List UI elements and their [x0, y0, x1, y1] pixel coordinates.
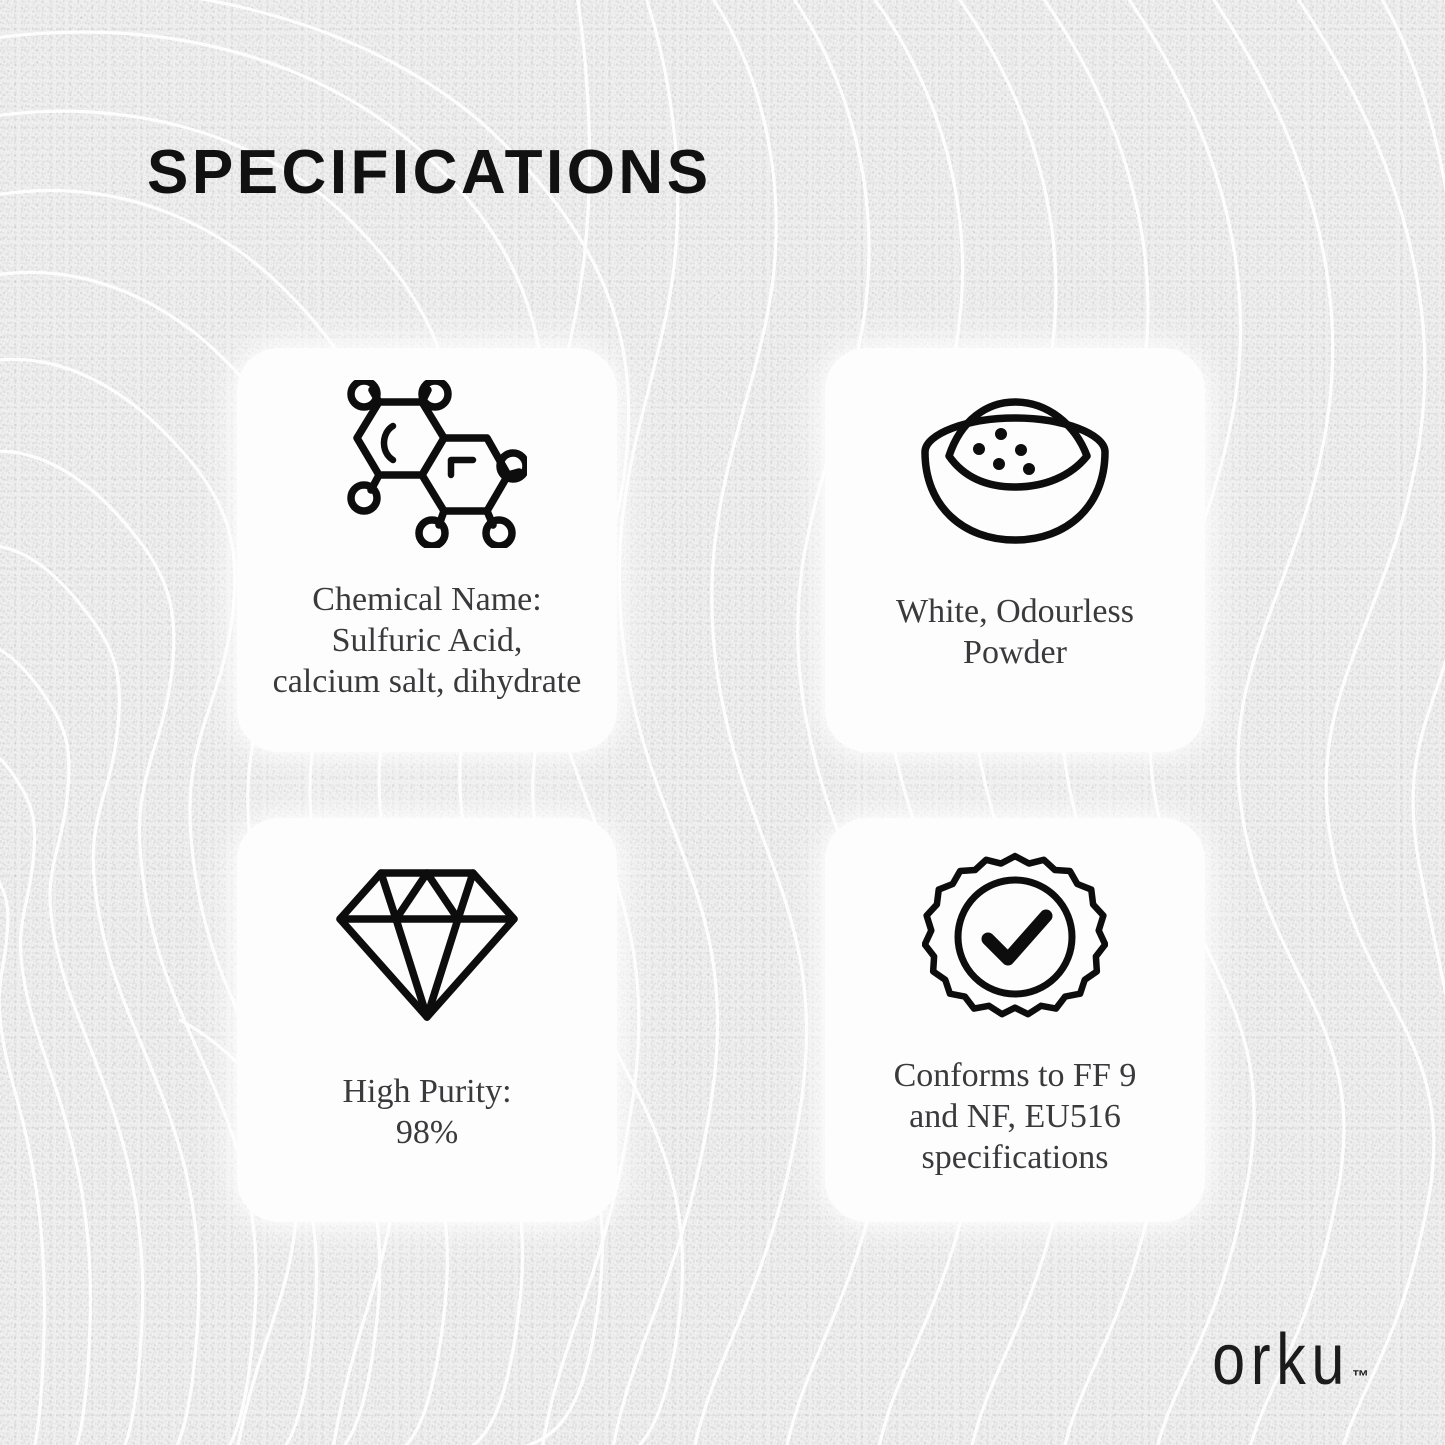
powder-bowl-icon	[843, 348, 1187, 592]
brand-logo: orku ™	[1182, 1327, 1369, 1393]
spec-line: Sulfuric Acid,	[255, 621, 599, 662]
spec-card-chemical-name: Chemical Name: Sulfuric Acid, calcium sa…	[237, 348, 617, 752]
spec-card-text: Chemical Name: Sulfuric Acid, calcium sa…	[255, 580, 599, 702]
spec-card-conformity: Conforms to FF 9 and NF, EU516 specifica…	[825, 818, 1205, 1222]
spec-line: and NF, EU516	[843, 1097, 1187, 1138]
specifications-infographic: SPECIFICATIONS	[0, 0, 1445, 1445]
spec-card-appearance: White, Odourless Powder	[825, 348, 1205, 752]
spec-card-text: High Purity: 98%	[255, 1072, 599, 1154]
brand-logo-wordmark: orku	[1212, 1327, 1350, 1393]
spec-line: White, Odourless	[843, 592, 1187, 633]
specification-card-grid: Chemical Name: Sulfuric Acid, calcium sa…	[237, 348, 1205, 1222]
spec-line: calcium salt, dihydrate	[255, 662, 599, 703]
spec-line: specifications	[843, 1138, 1187, 1179]
spec-card-purity: High Purity: 98%	[237, 818, 617, 1222]
spec-line: Conforms to FF 9	[843, 1056, 1187, 1097]
spec-line: Powder	[843, 633, 1187, 674]
spec-card-text: White, Odourless Powder	[843, 592, 1187, 674]
trademark-symbol: ™	[1352, 1368, 1369, 1385]
spec-line: High Purity:	[255, 1072, 599, 1113]
spec-card-text: Conforms to FF 9 and NF, EU516 specifica…	[843, 1056, 1187, 1178]
spec-line: Chemical Name:	[255, 580, 599, 621]
page-title: SPECIFICATIONS	[147, 142, 712, 204]
certified-badge-icon	[843, 818, 1187, 1056]
spec-line: 98%	[255, 1113, 599, 1154]
diamond-icon	[255, 818, 599, 1072]
molecule-icon	[255, 348, 599, 580]
